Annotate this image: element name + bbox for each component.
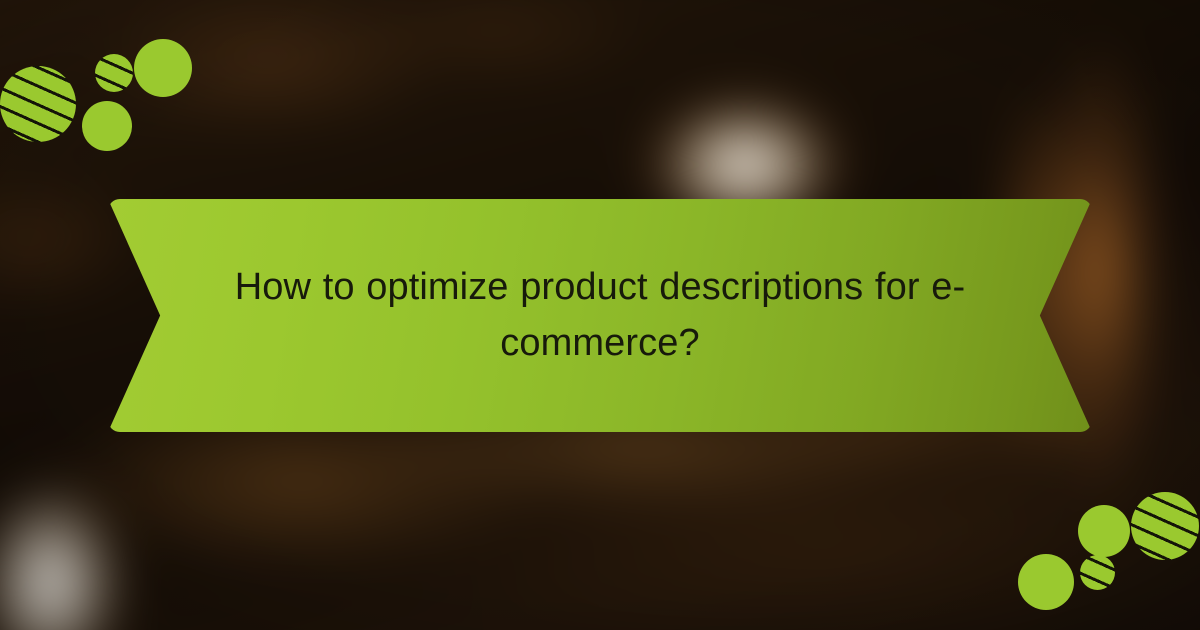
page-title: How to optimize product descriptions for… <box>177 260 1023 370</box>
circle-striped-small-icon <box>1080 555 1115 590</box>
circle-solid-medium-icon <box>1078 505 1130 557</box>
title-banner: How to optimize product descriptions for… <box>108 199 1092 432</box>
circle-solid-large-icon <box>1018 554 1074 610</box>
decor-cluster-bottom-right <box>1000 480 1200 630</box>
circle-striped-large-icon <box>1131 492 1199 560</box>
page-title-line-1: How to optimize product descriptions for <box>235 266 920 308</box>
circle-solid-large-icon <box>134 39 192 97</box>
title-banner-content: How to optimize product descriptions for… <box>177 260 1023 370</box>
title-banner-ribbon: How to optimize product descriptions for… <box>108 199 1092 432</box>
decor-cluster-top-left <box>0 18 210 168</box>
circle-striped-small-icon <box>95 54 133 92</box>
circle-solid-medium-icon <box>82 101 132 151</box>
circle-striped-large-icon <box>0 66 76 142</box>
